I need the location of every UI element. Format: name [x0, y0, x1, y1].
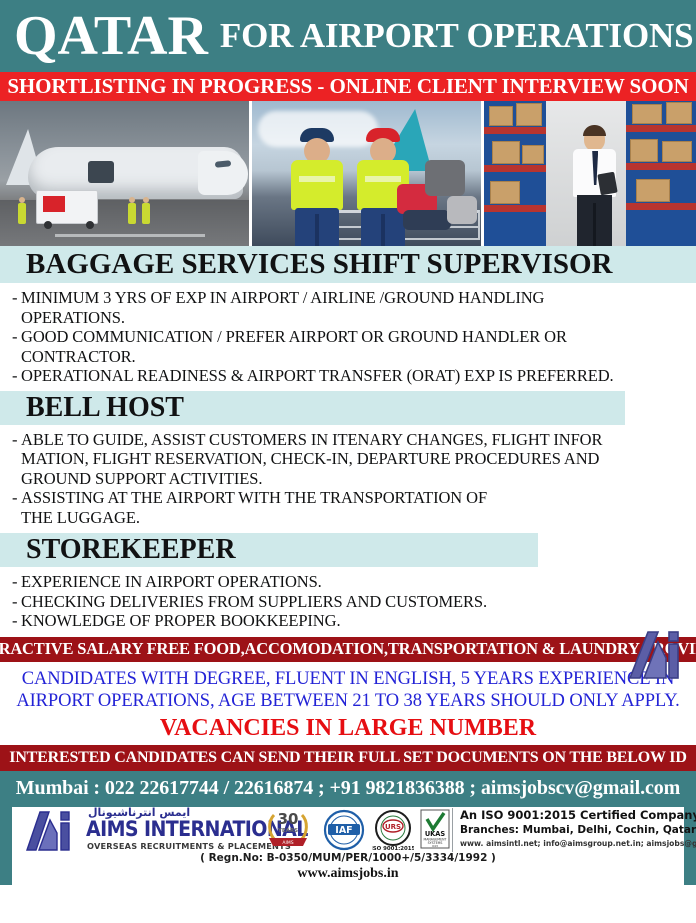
shelf-beam — [484, 205, 546, 212]
website-url[interactable]: www.aimsjobs.in — [12, 866, 684, 882]
benefits-band: ATTRACTIVE SALARY FREE FOOD,ACCOMODATION… — [0, 637, 696, 662]
requirement-text: ASSISTING AT THE AIRPORT WITH THE TRANSP… — [21, 488, 690, 527]
shelf-beam — [484, 127, 546, 134]
company-tagline: OVERSEAS RECRUITMENTS & PLACEMENTS — [87, 841, 291, 851]
shelf-beam — [626, 125, 696, 132]
handler-left-figure — [286, 128, 348, 246]
job-requirements-baggage-supervisor: - MINIMUM 3 YRS OF EXP IN AIRPORT / AIRL… — [0, 283, 696, 388]
job-title-bell-host: BELL HOST — [0, 391, 625, 425]
carton-box — [630, 139, 658, 162]
carton-box — [636, 179, 670, 202]
requirement-text: CHECKING DELIVERIES FROM SUPPLIERS AND C… — [21, 592, 690, 612]
storekeeper-figure — [565, 127, 623, 246]
aims-logo-icon — [24, 809, 80, 853]
urs-certification-icon: URS ISO 9001:2015 — [372, 809, 414, 858]
vehicle-wheel — [44, 221, 52, 229]
plane-nose-shape — [198, 151, 248, 195]
poster-footer: ايمس انترناشيونال AIMS INTERNATIONAL OVE… — [0, 807, 696, 885]
registration-number: ( Regn.No: B-0350/MUM/PER/1000+/5/3334/1… — [12, 852, 684, 864]
requirement-text: ABLE TO GUIDE, ASSIST CUSTOMERS IN ITENA… — [21, 430, 690, 489]
eligibility-line-1: CANDIDATES WITH DEGREE, FLUENT IN ENGLIS… — [6, 668, 690, 690]
status-strip-text: SHORTLISTING IN PROGRESS - ONLINE CLIENT… — [7, 74, 688, 99]
carton-box — [489, 106, 513, 126]
photo-warehouse-storekeeper — [484, 101, 696, 246]
footer-divider — [452, 808, 453, 852]
photo-aircraft-loading — [0, 101, 249, 246]
photo-strip — [0, 101, 696, 246]
benefits-band-text: ATTRACTIVE SALARY FREE FOOD,ACCOMODATION… — [0, 639, 696, 659]
submit-instruction-text: INTERESTED CANDIDATES CAN SEND THEIR FUL… — [9, 749, 686, 767]
requirement-text: KNOWLEDGE OF PROPER BOOKKEEPING. — [21, 611, 690, 631]
requirement-item: - ASSISTING AT THE AIRPORT WITH THE TRAN… — [12, 488, 690, 527]
suitcase-navy — [403, 210, 451, 230]
hivis-vest-shape — [291, 160, 343, 210]
requirement-text: GOOD COMMUNICATION / PREFER AIRPORT OR G… — [21, 327, 690, 366]
shelf-beam — [626, 203, 696, 210]
carton-box — [632, 104, 662, 124]
cargo-container-vehicle — [36, 190, 98, 224]
bullet-dash: - — [12, 288, 21, 308]
requirement-item: - OPERATIONAL READINESS & AIRPORT TRANSF… — [12, 366, 690, 386]
duffel-grey — [425, 160, 465, 196]
requirement-item: - ABLE TO GUIDE, ASSIST CUSTOMERS IN ITE… — [12, 430, 690, 489]
requirement-text: MINIMUM 3 YRS OF EXP IN AIRPORT / AIRLIN… — [21, 288, 690, 327]
shelf-beam — [484, 165, 546, 172]
job-title-baggage-supervisor: BAGGAGE SERVICES SHIFT SUPERVISOR — [0, 246, 696, 283]
contact-details-text[interactable]: Mumbai : 022 22617744 / 22616874 ; +91 9… — [16, 777, 680, 800]
aims-ai-monogram-icon — [628, 628, 680, 686]
svg-text:YEARS: YEARS — [277, 828, 298, 834]
bullet-dash: - — [12, 366, 21, 386]
requirement-text: EXPERIENCE IN AIRPORT OPERATIONS. — [21, 572, 690, 592]
thirty-years-badge-icon: 30 YEARS AIMS — [262, 807, 314, 851]
status-strip: SHORTLISTING IN PROGRESS - ONLINE CLIENT… — [0, 72, 696, 101]
svg-text:IAF: IAF — [335, 825, 352, 836]
clipboard-shape — [597, 172, 617, 196]
ground-crew-figure — [128, 203, 136, 224]
job-requirements-bell-host: - ABLE TO GUIDE, ASSIST CUSTOMERS IN ITE… — [0, 425, 696, 530]
trousers-shape — [295, 208, 339, 246]
bullet-dash: - — [12, 488, 21, 508]
requirement-item: - GOOD COMMUNICATION / PREFER AIRPORT OR… — [12, 327, 690, 366]
suitcase-silver — [447, 196, 477, 224]
ground-crew-figure — [18, 203, 26, 224]
carton-box — [490, 181, 520, 204]
shelving-rack-left — [484, 101, 546, 246]
bullet-dash: - — [12, 327, 21, 347]
bullet-dash: - — [12, 430, 21, 450]
footer-web-contacts[interactable]: www. aimsintl.net; info@aimsgroup.net.in… — [460, 839, 696, 848]
vehicle-wheel — [86, 221, 94, 229]
carton-box — [662, 141, 692, 162]
iso-certified-line: An ISO 9001:2015 Certified Company — [460, 808, 696, 822]
submit-instruction-band: INTERESTED CANDIDATES CAN SEND THEIR FUL… — [0, 745, 696, 771]
carton-box — [522, 145, 544, 164]
ukas-certification-icon: UKAS MANAGEMENT SYSTEMS 043 — [420, 809, 450, 856]
trousers-shape — [577, 195, 612, 246]
iaf-certification-icon: IAF — [322, 809, 366, 856]
eligibility-note: CANDIDATES WITH DEGREE, FLUENT IN ENGLIS… — [0, 662, 696, 714]
svg-text:URS: URS — [385, 823, 401, 831]
hair-shape — [583, 125, 606, 136]
carton-box — [666, 102, 692, 124]
apron-marking — [55, 234, 205, 237]
requirement-item: - KNOWLEDGE OF PROPER BOOKKEEPING. — [12, 611, 690, 631]
bullet-dash: - — [12, 592, 21, 612]
poster-header: QATAR FOR AIRPORT OPERATIONS — [0, 0, 696, 72]
branches-line: Branches: Mumbai, Delhi, Cochin, Qatar &… — [460, 824, 696, 836]
job-requirements-storekeeper: - EXPERIENCE IN AIRPORT OPERATIONS. - CH… — [0, 567, 696, 633]
ground-crew-figure — [142, 203, 150, 224]
contact-band: Mumbai : 022 22617744 / 22616874 ; +91 9… — [0, 771, 696, 807]
plane-cargo-door — [88, 161, 114, 183]
svg-text:30: 30 — [278, 810, 299, 828]
job-poster: QATAR FOR AIRPORT OPERATIONS SHORTLISTIN… — [0, 0, 696, 923]
shelf-beam — [626, 163, 696, 170]
requirement-item: - MINIMUM 3 YRS OF EXP IN AIRPORT / AIRL… — [12, 288, 690, 327]
requirement-text: OPERATIONAL READINESS & AIRPORT TRANSFER… — [21, 366, 690, 386]
shelving-rack-right — [626, 101, 696, 246]
header-country-title: QATAR — [14, 8, 208, 64]
vacancies-headline: VACANCIES IN LARGE NUMBER — [0, 715, 696, 742]
luggage-pile — [395, 156, 479, 230]
requirement-item: - EXPERIENCE IN AIRPORT OPERATIONS. — [12, 572, 690, 592]
svg-text:AIMS: AIMS — [282, 840, 293, 846]
bullet-dash: - — [12, 572, 21, 592]
photo-baggage-handlers — [252, 101, 481, 246]
job-title-storekeeper: STOREKEEPER — [0, 533, 538, 567]
requirement-item: - CHECKING DELIVERIES FROM SUPPLIERS AND… — [12, 592, 690, 612]
carton-box — [492, 141, 520, 164]
header-subtitle: FOR AIRPORT OPERATIONS — [220, 18, 693, 54]
bullet-dash: - — [12, 611, 21, 631]
carton-box — [516, 103, 542, 126]
eligibility-line-2: AIRPORT OPERATIONS, AGE BETWEEN 21 TO 38… — [6, 690, 690, 712]
svg-text:043: 043 — [432, 844, 438, 848]
